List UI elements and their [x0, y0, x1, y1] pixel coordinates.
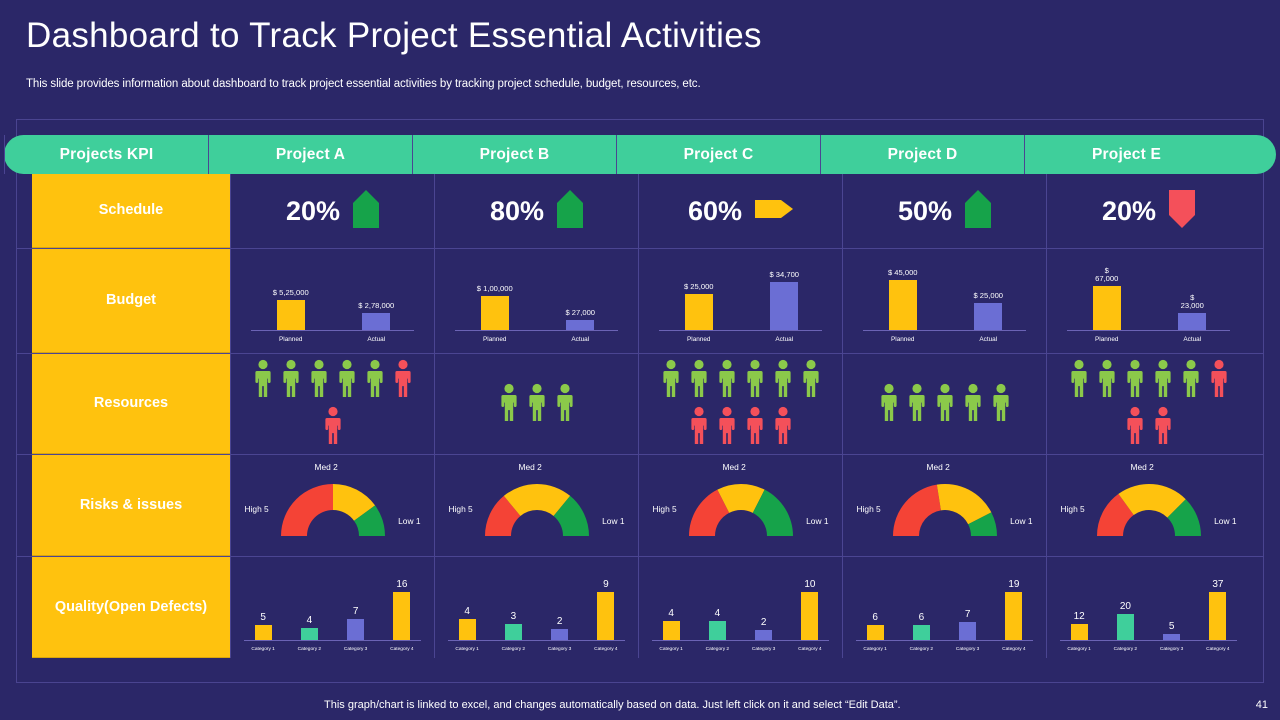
defect-axis-line [244, 640, 421, 641]
table-row-quality: Quality(Open Defects) 5 Category 1 4 Cat… [17, 557, 1264, 658]
budget-actual-label: $ 2,78,000 [358, 302, 394, 311]
budget-actual-bar [566, 320, 594, 330]
defect-value: 37 [1212, 579, 1223, 590]
defect-value: 4 [307, 615, 313, 626]
defect-bar [597, 592, 614, 640]
gauge-label-high: High 5 [1061, 504, 1085, 514]
defect-value: 10 [804, 579, 815, 590]
schedule-percent-d: 50% [898, 196, 952, 227]
budget-actual-group: $ 27,000 [537, 260, 625, 330]
slide: Dashboard to Track Project Essential Act… [0, 0, 1280, 720]
row-label-quality: Quality(Open Defects) [32, 557, 230, 658]
budget-cell-project-b: $ 1,00,000 $ 27,000 Planned Actual [434, 249, 638, 353]
defect-category-label: Category 3 [945, 647, 991, 652]
budget-axis-line [455, 330, 618, 331]
defect-value: 7 [353, 606, 359, 617]
gauge-segment-high [281, 484, 333, 536]
risk-gauge-e: High 5 Med 2 Low 1 [1059, 460, 1239, 552]
row-label-budget: Budget [32, 249, 230, 353]
budget-actual-group: $ 34,700 [741, 260, 829, 330]
budget-actual-label: $ 25,000 [973, 292, 1003, 301]
defect-column-4: 9 [583, 566, 629, 640]
budget-planned-label: $ 25,000 [684, 283, 714, 292]
defect-category-label: Category 2 [286, 647, 332, 652]
resource-person-green-icon [308, 359, 330, 402]
budget-planned-group: $ 5,25,000 [247, 260, 335, 330]
resource-person-green-icon [800, 359, 822, 402]
quality-cell-project-a: 5 Category 1 4 Category 2 7 Category 3 [230, 557, 434, 658]
budget-planned-label: $ 67,000 [1095, 267, 1118, 284]
budget-chart-d: $ 45,000 $ 25,000 Planned Actual [857, 257, 1032, 345]
defect-column-1: 6 [852, 566, 898, 640]
defect-category-label: Category 3 [1149, 647, 1195, 652]
budget-cell-project-c: $ 25,000 $ 34,700 Planned Actual [638, 249, 842, 353]
schedule-cell-project-c: 60% [638, 174, 842, 248]
resource-person-red-icon [688, 406, 710, 449]
defect-bar [709, 621, 726, 640]
defect-chart-d: 6 Category 1 6 Category 2 7 Category 3 [852, 562, 1037, 654]
budget-chart-e: $ 67,000 $ 23,000 Planned Actual [1061, 257, 1236, 345]
defect-bar [867, 625, 884, 640]
defect-column-4: 19 [991, 566, 1037, 640]
defect-category-label: Category 2 [898, 647, 944, 652]
defect-category-label: Category 4 [583, 647, 629, 652]
defect-bar [551, 629, 568, 640]
row-label-schedule: Schedule [32, 174, 230, 248]
budget-planned-group: $ 45,000 [859, 260, 947, 330]
defect-category-label: Category 3 [537, 647, 583, 652]
resource-person-red-icon [1152, 406, 1174, 449]
defect-value: 3 [511, 611, 517, 622]
row-label-resources: Resources [32, 354, 230, 454]
defect-column-3: 7 [333, 566, 379, 640]
header-cell-project-b: Project B [412, 135, 616, 174]
resource-person-green-icon [962, 383, 984, 426]
budget-actual-group: $ 23,000 [1149, 260, 1237, 330]
defect-bar [959, 622, 976, 640]
budget-category-planned: Planned [655, 336, 743, 343]
defect-category-label: Category 2 [490, 647, 536, 652]
table-row-schedule: Schedule 20% 80% 60% 50% 20% [17, 174, 1264, 249]
defect-category-label: Category 1 [444, 647, 490, 652]
resources-cell-project-b [434, 354, 638, 454]
budget-planned-label: $ 1,00,000 [477, 285, 513, 294]
budget-actual-label: $ 27,000 [565, 309, 595, 318]
budget-actual-bar [974, 303, 1002, 330]
gauge-label-med: Med 2 [927, 462, 950, 472]
header-cell-kpi: Projects KPI [4, 135, 208, 174]
resource-person-green-icon [906, 383, 928, 426]
defect-bar [347, 619, 364, 640]
risk-gauge-c: High 5 Med 2 Low 1 [651, 460, 831, 552]
risks-cell-project-e: High 5 Med 2 Low 1 [1046, 455, 1250, 556]
defect-chart-c: 4 Category 1 4 Category 2 2 Category 3 [648, 562, 833, 654]
budget-planned-group: $ 1,00,000 [451, 260, 539, 330]
defect-value: 9 [603, 579, 609, 590]
defect-value: 7 [965, 609, 971, 620]
header-cell-project-a: Project A [208, 135, 412, 174]
schedule-trend-right-icon [755, 197, 793, 226]
defect-value: 20 [1120, 601, 1131, 612]
budget-category-actual: Actual [333, 336, 421, 343]
risk-gauge-d: High 5 Med 2 Low 1 [855, 460, 1035, 552]
resource-person-green-icon [1124, 359, 1146, 402]
defect-column-2: 3 [490, 566, 536, 640]
budget-axis-line [251, 330, 414, 331]
defect-category-label: Category 4 [991, 647, 1037, 652]
defect-value: 5 [1169, 621, 1175, 632]
defect-category-label: Category 1 [240, 647, 286, 652]
budget-axis-line [1067, 330, 1230, 331]
defect-value: 12 [1074, 611, 1085, 622]
defect-value: 16 [396, 579, 407, 590]
budget-planned-bar [685, 294, 713, 330]
budget-cell-project-e: $ 67,000 $ 23,000 Planned Actual [1046, 249, 1250, 353]
budget-chart-a: $ 5,25,000 $ 2,78,000 Planned Actual [245, 257, 420, 345]
defect-category-label: Category 3 [333, 647, 379, 652]
budget-actual-bar [362, 313, 390, 330]
page-title: Dashboard to Track Project Essential Act… [26, 16, 762, 56]
defect-bar [663, 621, 680, 640]
resource-person-green-icon [688, 359, 710, 402]
budget-cell-project-d: $ 45,000 $ 25,000 Planned Actual [842, 249, 1046, 353]
schedule-cell-project-b: 80% [434, 174, 638, 248]
resource-person-green-icon [934, 383, 956, 426]
resource-person-red-icon [392, 359, 414, 402]
resource-person-red-icon [322, 406, 344, 449]
defect-column-1: 4 [648, 566, 694, 640]
defect-chart-e: 12 Category 1 20 Category 2 5 Category 3 [1056, 562, 1241, 654]
gauge-label-low: Low 1 [398, 516, 420, 526]
gauge-label-med: Med 2 [519, 462, 542, 472]
schedule-trend-down-icon [1169, 190, 1195, 233]
schedule-trend-up-icon [353, 190, 379, 233]
schedule-cell-project-a: 20% [230, 174, 434, 248]
defect-bar [1117, 614, 1134, 640]
resource-person-green-icon [336, 359, 358, 402]
budget-actual-label: $ 23,000 [1181, 294, 1204, 311]
defect-category-label: Category 2 [694, 647, 740, 652]
budget-category-planned: Planned [451, 336, 539, 343]
resource-person-green-icon [1096, 359, 1118, 402]
page-subtitle: This slide provides information about da… [26, 78, 701, 90]
risk-gauge-a: High 5 Med 2 Low 1 [243, 460, 423, 552]
resource-pictogram-d [852, 383, 1037, 426]
budget-planned-label: $ 5,25,000 [273, 289, 309, 298]
defect-column-3: 2 [537, 566, 583, 640]
defect-axis-line [856, 640, 1033, 641]
risks-cell-project-b: High 5 Med 2 Low 1 [434, 455, 638, 556]
resource-person-green-icon [554, 383, 576, 426]
resource-person-green-icon [660, 359, 682, 402]
resource-person-green-icon [1152, 359, 1174, 402]
budget-category-actual: Actual [1149, 336, 1237, 343]
budget-actual-bar [1178, 313, 1206, 330]
row-label-risks: Risks & issues [32, 455, 230, 556]
table-row-budget: Budget $ 5,25,000 $ 2,78,000 Planned Act… [17, 249, 1264, 354]
budget-actual-bar [770, 282, 798, 330]
kpi-table: Schedule 20% 80% 60% 50% 20% [17, 174, 1264, 658]
page-number: 41 [1256, 699, 1268, 711]
resource-pictogram-a [240, 359, 425, 449]
resources-cell-project-c [638, 354, 842, 454]
defect-column-1: 5 [240, 566, 286, 640]
resource-pictogram-c [648, 359, 833, 449]
resource-person-green-icon [990, 383, 1012, 426]
schedule-trend-up-icon [965, 190, 991, 233]
defect-column-2: 6 [898, 566, 944, 640]
resource-person-red-icon [744, 406, 766, 449]
gauge-label-med: Med 2 [1131, 462, 1154, 472]
resource-person-red-icon [716, 406, 738, 449]
defect-value: 2 [761, 617, 767, 628]
budget-planned-label: $ 45,000 [888, 269, 918, 278]
risks-cell-project-c: High 5 Med 2 Low 1 [638, 455, 842, 556]
resource-person-green-icon [878, 383, 900, 426]
defect-value: 5 [260, 612, 266, 623]
defect-category-label: Category 4 [1195, 647, 1241, 652]
risk-gauge-b: High 5 Med 2 Low 1 [447, 460, 627, 552]
schedule-percent-a: 20% [286, 196, 340, 227]
risks-cell-project-d: High 5 Med 2 Low 1 [842, 455, 1046, 556]
table-row-risks: Risks & issues High 5 Med 2 Low 1 High 5… [17, 455, 1264, 557]
defect-chart-a: 5 Category 1 4 Category 2 7 Category 3 [240, 562, 425, 654]
resource-person-green-icon [280, 359, 302, 402]
defect-column-3: 7 [945, 566, 991, 640]
defect-column-1: 4 [444, 566, 490, 640]
quality-cell-project-d: 6 Category 1 6 Category 2 7 Category 3 [842, 557, 1046, 658]
defect-value: 6 [872, 612, 878, 623]
gauge-label-high: High 5 [857, 504, 881, 514]
defect-column-3: 5 [1149, 566, 1195, 640]
resources-cell-project-d [842, 354, 1046, 454]
budget-category-actual: Actual [741, 336, 829, 343]
defect-category-label: Category 4 [787, 647, 833, 652]
defect-axis-line [652, 640, 829, 641]
defect-column-2: 20 [1102, 566, 1148, 640]
gauge-label-high: High 5 [449, 504, 473, 514]
defect-value: 2 [557, 616, 563, 627]
resources-cell-project-a [230, 354, 434, 454]
resource-person-green-icon [526, 383, 548, 426]
budget-planned-group: $ 67,000 [1063, 260, 1151, 330]
resource-person-green-icon [252, 359, 274, 402]
gauge-label-high: High 5 [653, 504, 677, 514]
quality-cell-project-e: 12 Category 1 20 Category 2 5 Category 3 [1046, 557, 1250, 658]
defect-bar [255, 625, 272, 640]
budget-actual-label: $ 34,700 [769, 271, 799, 280]
budget-planned-bar [481, 296, 509, 330]
defect-chart-b: 4 Category 1 3 Category 2 2 Category 3 [444, 562, 629, 654]
defect-category-label: Category 1 [648, 647, 694, 652]
budget-chart-c: $ 25,000 $ 34,700 Planned Actual [653, 257, 828, 345]
budget-actual-group: $ 25,000 [945, 260, 1033, 330]
gauge-label-low: Low 1 [602, 516, 624, 526]
gauge-label-low: Low 1 [806, 516, 828, 526]
resource-person-green-icon [1068, 359, 1090, 402]
budget-category-planned: Planned [1063, 336, 1151, 343]
budget-axis-line [659, 330, 822, 331]
defect-bar [801, 592, 818, 640]
defect-category-label: Category 2 [1102, 647, 1148, 652]
defect-axis-line [448, 640, 625, 641]
table-header-bar: Projects KPI Project A Project B Project… [4, 135, 1276, 174]
defect-value: 19 [1008, 579, 1019, 590]
defect-bar [301, 628, 318, 640]
defect-column-4: 10 [787, 566, 833, 640]
defect-category-label: Category 1 [1056, 647, 1102, 652]
resource-person-green-icon [772, 359, 794, 402]
budget-category-actual: Actual [945, 336, 1033, 343]
defect-bar [1005, 592, 1022, 640]
budget-planned-bar [889, 280, 917, 330]
defect-column-2: 4 [694, 566, 740, 640]
schedule-cell-project-e: 20% [1046, 174, 1250, 248]
defect-bar [505, 624, 522, 640]
budget-planned-bar [277, 300, 305, 330]
schedule-percent-c: 60% [688, 196, 742, 227]
resource-person-red-icon [772, 406, 794, 449]
budget-chart-b: $ 1,00,000 $ 27,000 Planned Actual [449, 257, 624, 345]
defect-bar [1163, 634, 1180, 640]
defect-column-2: 4 [286, 566, 332, 640]
resource-person-green-icon [498, 383, 520, 426]
budget-cell-project-a: $ 5,25,000 $ 2,78,000 Planned Actual [230, 249, 434, 353]
budget-category-planned: Planned [859, 336, 947, 343]
defect-column-4: 16 [379, 566, 425, 640]
defect-category-label: Category 3 [741, 647, 787, 652]
quality-cell-project-b: 4 Category 1 3 Category 2 2 Category 3 [434, 557, 638, 658]
defect-category-label: Category 4 [379, 647, 425, 652]
resource-person-green-icon [716, 359, 738, 402]
defect-bar [393, 592, 410, 640]
budget-axis-line [863, 330, 1026, 331]
schedule-percent-b: 80% [490, 196, 544, 227]
defect-axis-line [1060, 640, 1237, 641]
schedule-trend-up-icon [557, 190, 583, 233]
resource-pictogram-e [1056, 359, 1241, 449]
gauge-label-med: Med 2 [315, 462, 338, 472]
resource-person-red-icon [1124, 406, 1146, 449]
defect-value: 4 [715, 608, 721, 619]
header-cell-project-e: Project E [1024, 135, 1228, 174]
footer-note: This graph/chart is linked to excel, and… [324, 699, 901, 711]
resource-person-green-icon [744, 359, 766, 402]
defect-value: 4 [668, 608, 674, 619]
defect-column-1: 12 [1056, 566, 1102, 640]
defect-column-3: 2 [741, 566, 787, 640]
resources-cell-project-e [1046, 354, 1250, 454]
gauge-label-low: Low 1 [1010, 516, 1032, 526]
gauge-label-med: Med 2 [723, 462, 746, 472]
risks-cell-project-a: High 5 Med 2 Low 1 [230, 455, 434, 556]
defect-bar [1071, 624, 1088, 640]
budget-category-planned: Planned [247, 336, 335, 343]
defect-bar [913, 625, 930, 640]
budget-category-actual: Actual [537, 336, 625, 343]
gauge-label-high: High 5 [245, 504, 269, 514]
defect-category-label: Category 1 [852, 647, 898, 652]
gauge-label-low: Low 1 [1214, 516, 1236, 526]
resource-person-green-icon [364, 359, 386, 402]
defect-value: 6 [919, 612, 925, 623]
defect-bar [755, 630, 772, 640]
header-cell-project-c: Project C [616, 135, 820, 174]
defect-bar [1209, 592, 1226, 640]
table-row-resources: Resources [17, 354, 1264, 455]
resource-person-red-icon [1208, 359, 1230, 402]
budget-planned-group: $ 25,000 [655, 260, 743, 330]
resource-person-green-icon [1180, 359, 1202, 402]
schedule-cell-project-d: 50% [842, 174, 1046, 248]
defect-column-4: 37 [1195, 566, 1241, 640]
gauge-segment-high [893, 484, 941, 535]
quality-cell-project-c: 4 Category 1 4 Category 2 2 Category 3 [638, 557, 842, 658]
schedule-percent-e: 20% [1102, 196, 1156, 227]
budget-actual-group: $ 2,78,000 [333, 260, 421, 330]
defect-bar [459, 619, 476, 640]
resource-pictogram-b [444, 383, 629, 426]
header-cell-project-d: Project D [820, 135, 1024, 174]
budget-planned-bar [1093, 286, 1121, 330]
defect-value: 4 [464, 606, 470, 617]
